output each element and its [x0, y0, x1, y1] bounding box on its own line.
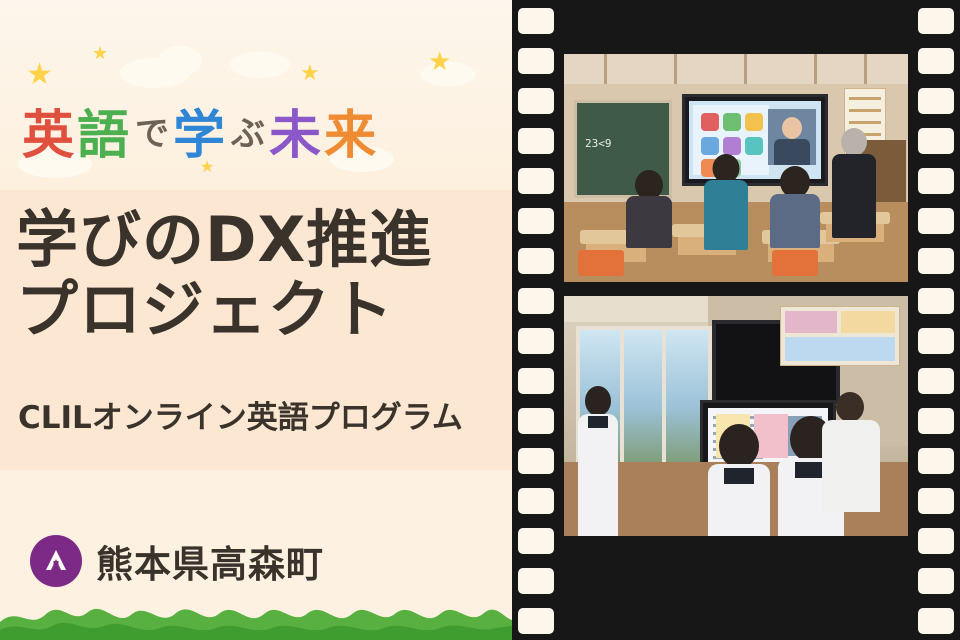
left-panel: ★ ★ ★ ★ ★ 英 語 で 学 ぶ 未 来 学びのDX推進 プロジェクト C…	[0, 0, 512, 640]
filmstrip: 23<9	[512, 0, 960, 640]
student	[626, 170, 672, 248]
headline-char-2: 語	[77, 93, 130, 168]
star-decoration: ★	[92, 44, 108, 62]
teacher-standing	[822, 392, 880, 512]
poster-root: ★ ★ ★ ★ ★ 英 語 で 学 ぶ 未 来 学びのDX推進 プロジェクト C…	[0, 0, 960, 640]
student	[770, 166, 820, 248]
chair	[578, 250, 624, 276]
headline-char-4: 学	[173, 93, 226, 168]
main-title-line-2: プロジェクト	[16, 275, 496, 345]
teacher	[832, 128, 876, 238]
classroom-goal-posters	[780, 306, 900, 366]
star-decoration: ★	[300, 62, 320, 84]
student-front-right	[708, 424, 770, 536]
headline-char-5: ぶ	[231, 106, 266, 155]
headline-char-6: 未	[269, 93, 322, 168]
takamori-town-logo-icon	[30, 535, 82, 587]
chair	[772, 250, 818, 276]
headline-char-3: で	[135, 106, 170, 155]
town-name: 熊本県高森町	[96, 534, 324, 588]
blackboard-text: 23<9	[585, 137, 612, 150]
cloud-decoration	[158, 46, 202, 76]
film-frame-1: 23<9	[564, 54, 908, 282]
main-title: 学びのDX推進 プロジェクト	[16, 205, 496, 345]
junior-high-clil-lesson-photo	[564, 296, 908, 536]
film-perforation-column-left	[518, 0, 554, 640]
classroom-online-lesson-photo: 23<9	[564, 54, 908, 282]
film-perforation-column-right	[918, 0, 954, 640]
main-title-line-1: 学びのDX推進	[16, 205, 496, 275]
online-teacher-video	[768, 109, 816, 165]
footer-row: 熊本県高森町	[30, 534, 324, 588]
grass-decoration	[0, 600, 512, 640]
headline-char-7: 来	[324, 93, 377, 168]
cloud-decoration	[230, 52, 290, 78]
headline-lockup: 英 語 で 学 ぶ 未 来	[22, 86, 482, 174]
film-frame-2	[564, 296, 908, 536]
star-decoration: ★	[428, 48, 451, 74]
headline-char-1: 英	[22, 93, 75, 168]
student-standing	[704, 154, 748, 250]
student-standing-left	[578, 386, 618, 536]
subtitle: CLILオンライン英語プログラム	[18, 392, 498, 437]
